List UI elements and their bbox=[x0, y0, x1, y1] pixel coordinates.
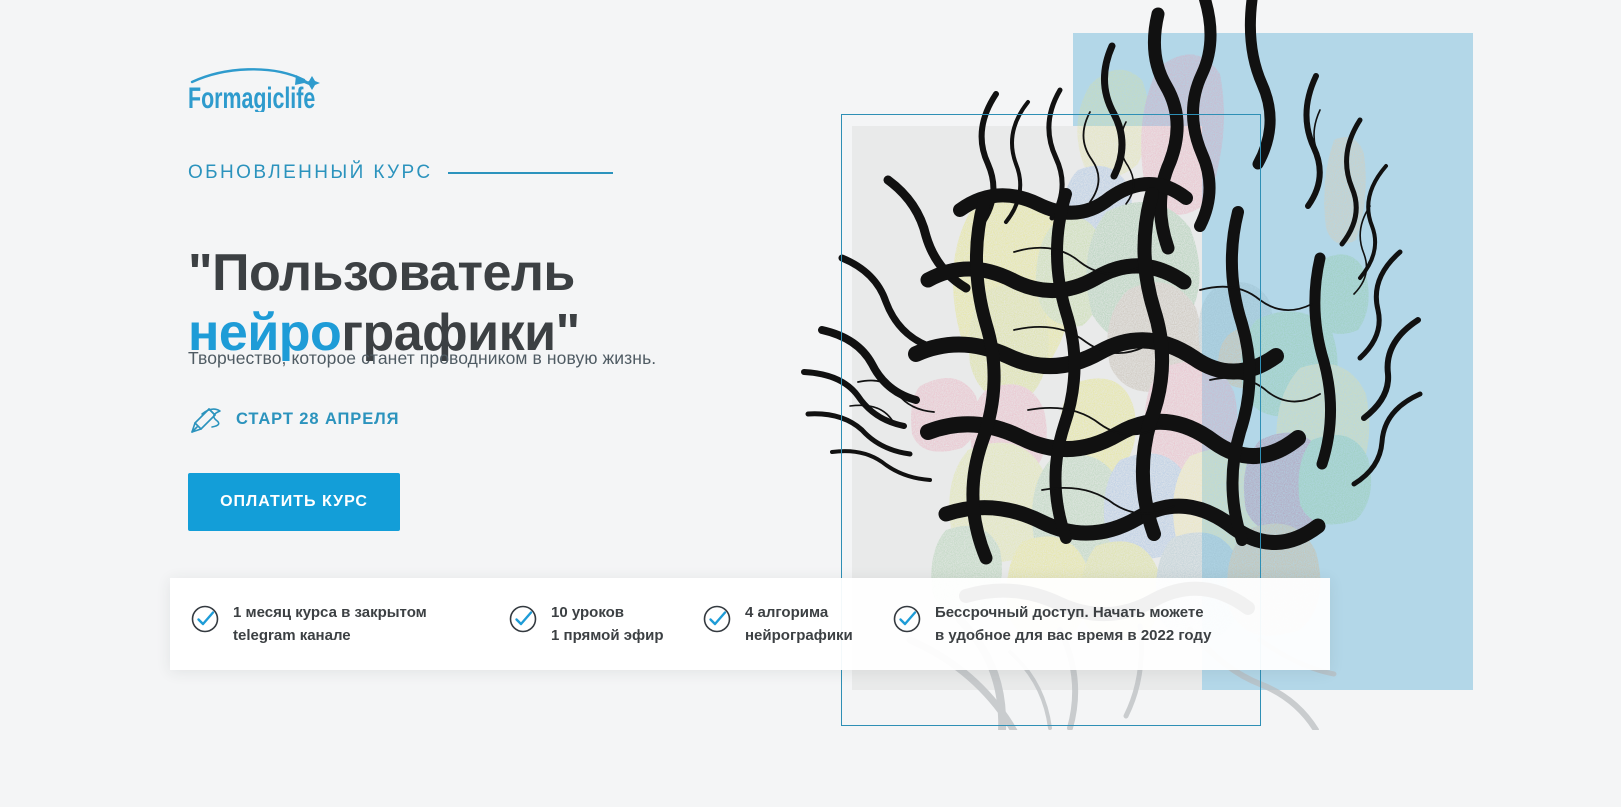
pencil-drawing-icon bbox=[188, 402, 222, 436]
start-date-label: СТАРТ 28 АПРЕЛЯ bbox=[236, 410, 399, 429]
feature-line-2: в удобное для вас время в 2022 году bbox=[935, 627, 1211, 644]
features-bar: 1 месяц курса в закрытом telegram канале… bbox=[170, 578, 1330, 670]
kicker-rule bbox=[448, 172, 613, 174]
title-part-1: "Пользователь bbox=[188, 244, 575, 302]
feature-text: 1 месяц курса в закрытом telegram канале bbox=[233, 601, 427, 648]
check-circle-icon bbox=[892, 604, 922, 634]
brand-logo[interactable]: Formagiclife bbox=[188, 66, 418, 112]
feature-text: 4 алгорима нейрографики bbox=[745, 601, 853, 648]
feature-line-1: 4 алгорима bbox=[745, 604, 828, 621]
check-circle-icon bbox=[702, 604, 732, 634]
brand-logo-text: Formagiclife bbox=[188, 81, 315, 112]
feature-line-1: Бессрочный доступ. Начать можете bbox=[935, 604, 1204, 621]
hero-content: Formagiclife ОБНОВЛЕННЫЙ КУРС "Пользоват… bbox=[188, 0, 828, 807]
check-circle-icon bbox=[508, 604, 538, 634]
feature-item: Бессрочный доступ. Начать можете в удобн… bbox=[892, 601, 1262, 648]
feature-item: 10 уроков 1 прямой эфир bbox=[508, 601, 678, 648]
kicker-row: ОБНОВЛЕННЫЙ КУРС bbox=[188, 162, 613, 184]
page-subtitle: Творчество, которое станет проводником в… bbox=[188, 348, 828, 369]
page-title: "Пользователь нейрографики" bbox=[188, 243, 828, 364]
kicker-label: ОБНОВЛЕННЫЙ КУРС bbox=[188, 162, 432, 184]
page-root: Formagiclife ОБНОВЛЕННЫЙ КУРС "Пользоват… bbox=[0, 0, 1621, 807]
feature-line-1: 10 уроков bbox=[551, 604, 624, 621]
start-date-row: СТАРТ 28 АПРЕЛЯ bbox=[188, 402, 399, 436]
feature-line-2: нейрографики bbox=[745, 627, 853, 644]
feature-item: 4 алгорима нейрографики bbox=[702, 601, 872, 648]
feature-text: 10 уроков 1 прямой эфир bbox=[551, 601, 664, 648]
feature-line-2: 1 прямой эфир bbox=[551, 627, 664, 644]
check-circle-icon bbox=[190, 604, 220, 634]
feature-text: Бессрочный доступ. Начать можете в удобн… bbox=[935, 601, 1211, 648]
pay-course-button[interactable]: ОПЛАТИТЬ КУРС bbox=[188, 473, 400, 531]
feature-line-2: telegram канале bbox=[233, 627, 351, 644]
feature-item: 1 месяц курса в закрытом telegram канале bbox=[190, 601, 482, 648]
feature-line-1: 1 месяц курса в закрытом bbox=[233, 604, 427, 621]
